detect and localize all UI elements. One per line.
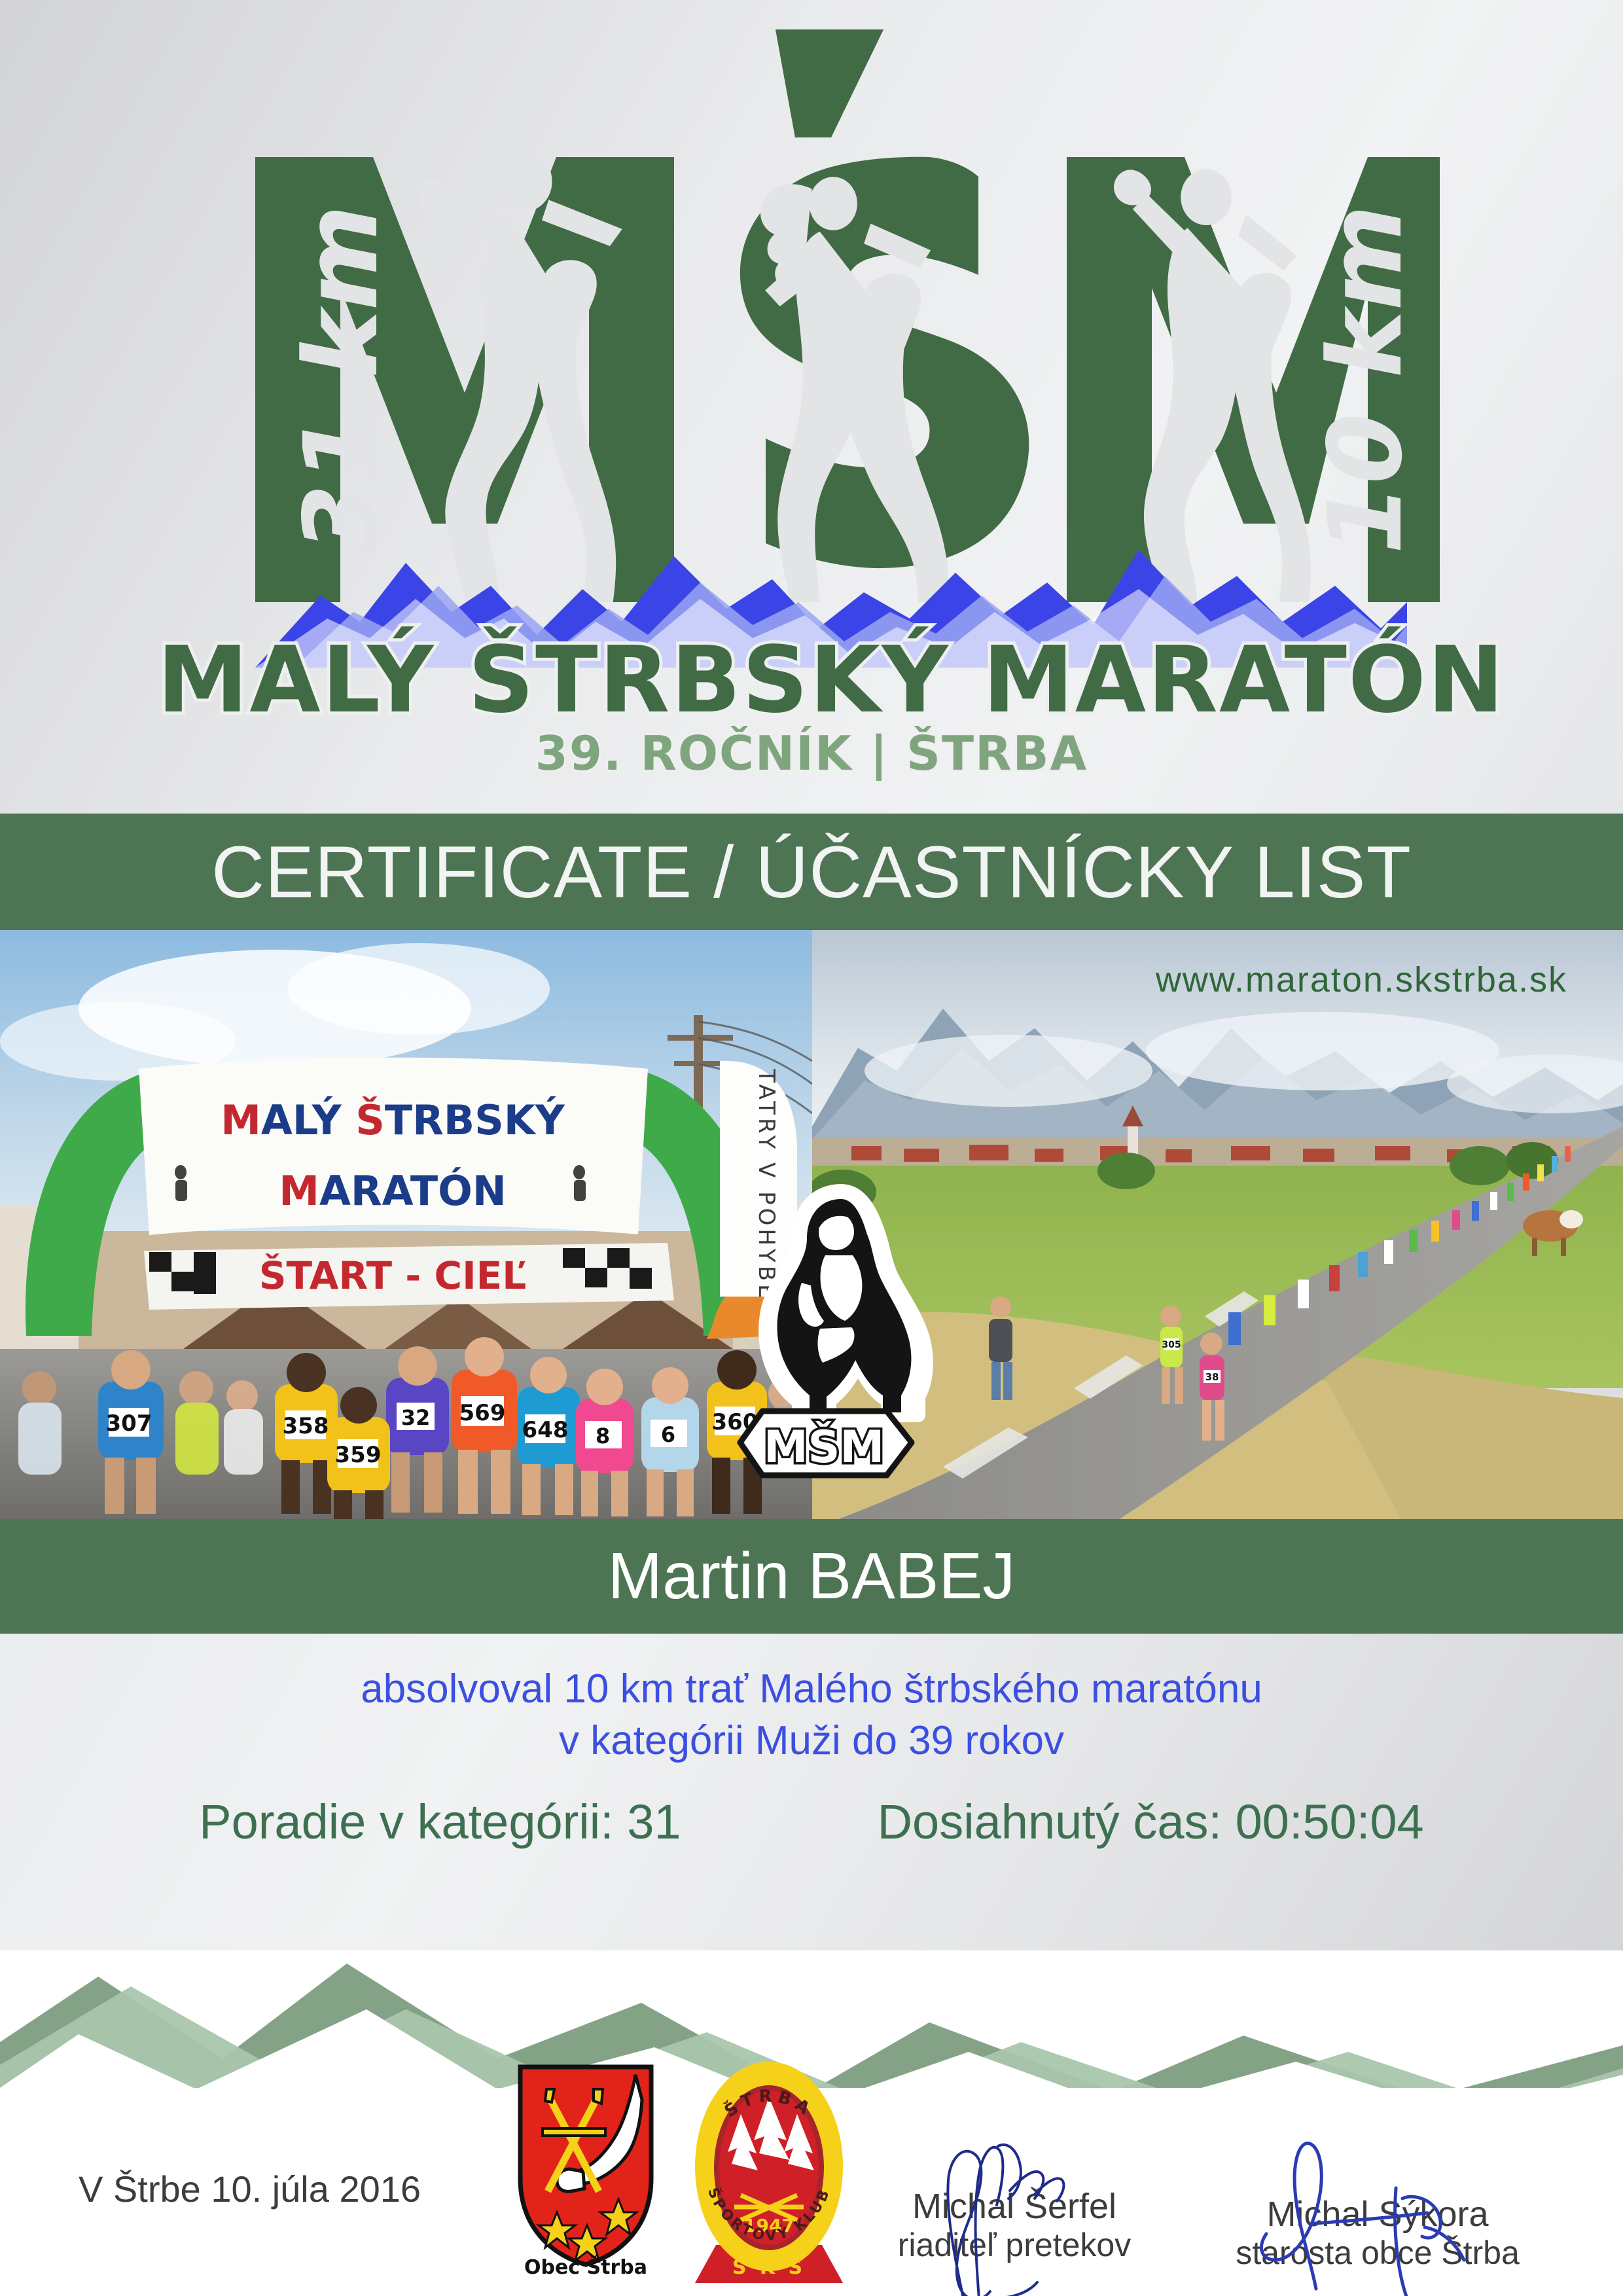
emblem-text: MŠM <box>764 1421 884 1473</box>
arch-banner-text: ŠTART - CIEĽ <box>259 1253 527 1298</box>
bib-text: 569 <box>459 1400 506 1426</box>
certificate-page: 31 km 10 km MALÝ ŠTRBSKÝ MARATÓN 39. ROČ… <box>0 0 1623 2296</box>
signature-mayor-icon <box>1247 2125 1508 2296</box>
description-line-1: absolvoval 10 km trať Malého štrbského m… <box>0 1663 1623 1715</box>
certificate-heading: CERTIFICATE / ÚČASTNÍCKY LIST <box>211 830 1412 914</box>
rank-result: Poradie v kategórii: 31 <box>199 1794 681 1850</box>
photo-start-line-svg: MALÝ ŠTRBSKÝ MARATÓN <box>0 930 812 1519</box>
arch-line1-text: MALÝ ŠTRBSKÝ <box>221 1096 565 1144</box>
logo-area: 31 km 10 km MALÝ ŠTRBSKÝ MARATÓN 39. ROČ… <box>0 0 1623 814</box>
msm-runner-emblem-icon: MŠM <box>736 1172 946 1486</box>
distance-left-text: 31 km <box>282 205 401 554</box>
body-area: absolvoval 10 km trať Malého štrbského m… <box>0 1634 1623 1961</box>
logo-inner: 31 km 10 km MALÝ ŠTRBSKÝ MARATÓN 39. ROČ… <box>157 26 1466 785</box>
bib-text: 38 <box>1205 1371 1219 1383</box>
description-line-2: v kategórii Muži do 39 rokov <box>0 1715 1623 1767</box>
rank-value: 31 <box>627 1795 681 1849</box>
distance-right-text: 10 km <box>1306 205 1425 554</box>
photo-start-line: MALÝ ŠTRBSKÝ MARATÓN <box>0 930 812 1519</box>
signature-block-mayor: Michal Sýkora starosta obce Štrba <box>1224 2194 1531 2272</box>
results-row: Poradie v kategórii: 31 Dosiahnutý čas: … <box>0 1794 1623 1850</box>
time-value: 00:50:04 <box>1236 1795 1424 1849</box>
website-url[interactable]: www.maraton.skstrba.sk <box>1156 960 1567 1000</box>
bib-text: 358 <box>283 1413 329 1439</box>
time-label: Dosiahnutý čas: <box>878 1795 1222 1849</box>
participant-name: Martin BABEJ <box>608 1539 1015 1614</box>
certificate-heading-band: CERTIFICATE / ÚČASTNÍCKY LIST <box>0 814 1623 930</box>
logo-subtitle: 39. ROČNÍK | ŠTRBA <box>157 730 1466 777</box>
participant-name-band: Martin BABEJ <box>0 1519 1623 1634</box>
bib-text: 8 <box>596 1424 610 1448</box>
bib-text: 307 <box>106 1410 152 1437</box>
bib-text: 648 <box>522 1417 569 1443</box>
msm-wordmark-svg: 31 km 10 km <box>157 26 1466 602</box>
bib-text: 6 <box>661 1422 675 1447</box>
footer: V Štrbe 10. júla 2016 Obec Štrba <box>0 2055 1623 2296</box>
signature-block-director: Michal Šerfel riaditeľ pretekov <box>870 2186 1158 2265</box>
sks-crest-icon: 1947 ŠTRBA ŠPORTOVÝ KLUB Š K Š <box>694 2055 844 2284</box>
arch-line2-text: MARATÓN <box>279 1167 506 1215</box>
bib-text: 305 <box>1162 1340 1181 1350</box>
logo-title: MALÝ ŠTRBSKÝ MARATÓN <box>157 635 1466 726</box>
crest-label: Obec Štrba <box>524 2255 647 2276</box>
issue-date: V Štrbe 10. júla 2016 <box>79 2168 421 2210</box>
signature-director-icon <box>906 2117 1122 2296</box>
obec-strba-crest-icon: Obec Štrba <box>507 2060 664 2276</box>
bib-text: 32 <box>401 1405 431 1430</box>
bib-text: 359 <box>335 1442 382 1468</box>
rank-label: Poradie v kategórii: <box>199 1795 613 1849</box>
crest-abbr: Š K Š <box>732 2255 806 2279</box>
msm-wordmark: 31 km 10 km <box>157 26 1466 602</box>
participant-description: absolvoval 10 km trať Malého štrbského m… <box>0 1663 1623 1767</box>
time-result: Dosiahnutý čas: 00:50:04 <box>878 1794 1424 1850</box>
